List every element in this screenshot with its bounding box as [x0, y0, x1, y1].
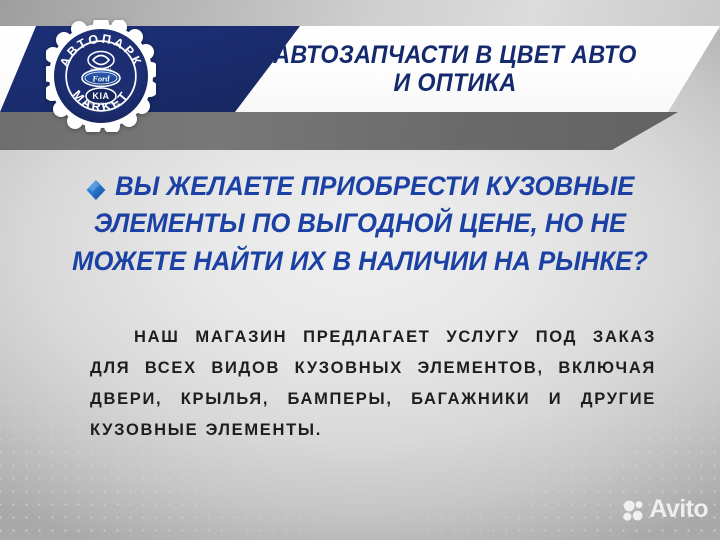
- svg-text:Ford: Ford: [91, 74, 110, 83]
- svg-text:THE POWER TO SURPRISE: THE POWER TO SURPRISE: [83, 103, 120, 106]
- slide-canvas: АВТОЗАПЧАСТИ В ЦВЕТ АВТО И ОПТИКА: [0, 0, 720, 540]
- svg-text:KIA: KIA: [92, 91, 109, 101]
- header-title-line-1: АВТОЗАПЧАСТИ В ЦВЕТ АВТО: [273, 41, 637, 69]
- avito-watermark: Avito: [621, 497, 708, 522]
- avtopark-market-logo: АВТОПАРК MARKET HYUNDAI Ford KIA TH: [46, 20, 156, 132]
- ford-badge: Ford: [82, 70, 120, 87]
- header-title-line-2: И ОПТИКА: [394, 69, 517, 97]
- header-title: АВТОЗАПЧАСТИ В ЦВЕТ АВТО И ОПТИКА: [246, 26, 665, 112]
- main-heading: ВЫ ЖЕЛАЕТЕ ПРИОБРЕСТИ КУЗОВНЫЕ ЭЛЕМЕНТЫ …: [64, 168, 657, 280]
- body-paragraph: НАШ МАГАЗИН ПРЕДЛАГАЕТ УСЛУГУ ПОД ЗАКАЗ …: [90, 322, 656, 445]
- avito-wordmark: Avito: [649, 497, 708, 522]
- main-heading-text: ВЫ ЖЕЛАЕТЕ ПРИОБРЕСТИ КУЗОВНЫЕ ЭЛЕМЕНТЫ …: [72, 171, 648, 276]
- avito-dots-icon: [621, 498, 645, 522]
- blue-diamond-icon: [86, 174, 107, 196]
